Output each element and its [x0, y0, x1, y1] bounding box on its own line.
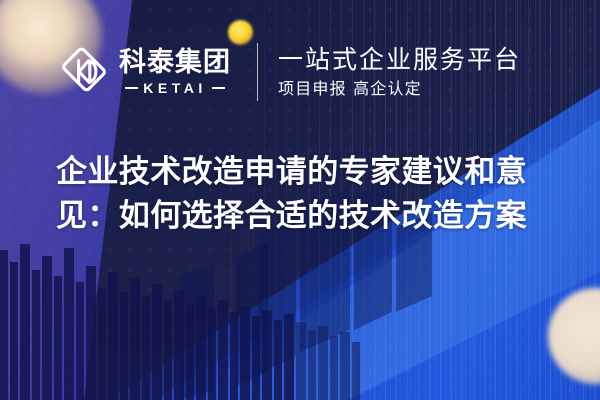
tagline-block: 一站式企业服务平台 项目申报 高企认定 — [278, 46, 521, 98]
brand-tagline-divider — [257, 43, 258, 101]
promo-banner: 科泰集团 KETAI 一站式企业服务平台 项目申报 高企认定 企业技术改造申请的… — [0, 0, 600, 400]
ketai-diamond-kd-logo-icon — [58, 46, 110, 98]
tagline-primary: 一站式企业服务平台 — [278, 46, 521, 73]
banner-header: 科泰集团 KETAI 一站式企业服务平台 项目申报 高企认定 — [0, 36, 600, 108]
headline-title: 企业技术改造申请的专家建议和意见：如何选择合适的技术改造方案 — [56, 150, 556, 238]
tagline-secondary: 项目申报 高企认定 — [278, 80, 521, 98]
banner-content: 科泰集团 KETAI 一站式企业服务平台 项目申报 高企认定 企业技术改造申请的… — [0, 0, 600, 400]
brand-name-en: KETAI — [138, 81, 211, 95]
brand-name-cn: 科泰集团 — [119, 49, 231, 76]
brand-name-en-row: KETAI — [119, 81, 231, 95]
brand-lockup: 科泰集团 KETAI — [58, 46, 231, 98]
brand-wordmark: 科泰集团 KETAI — [119, 49, 231, 95]
dash-left-icon — [125, 87, 138, 89]
dash-right-icon — [212, 87, 225, 89]
